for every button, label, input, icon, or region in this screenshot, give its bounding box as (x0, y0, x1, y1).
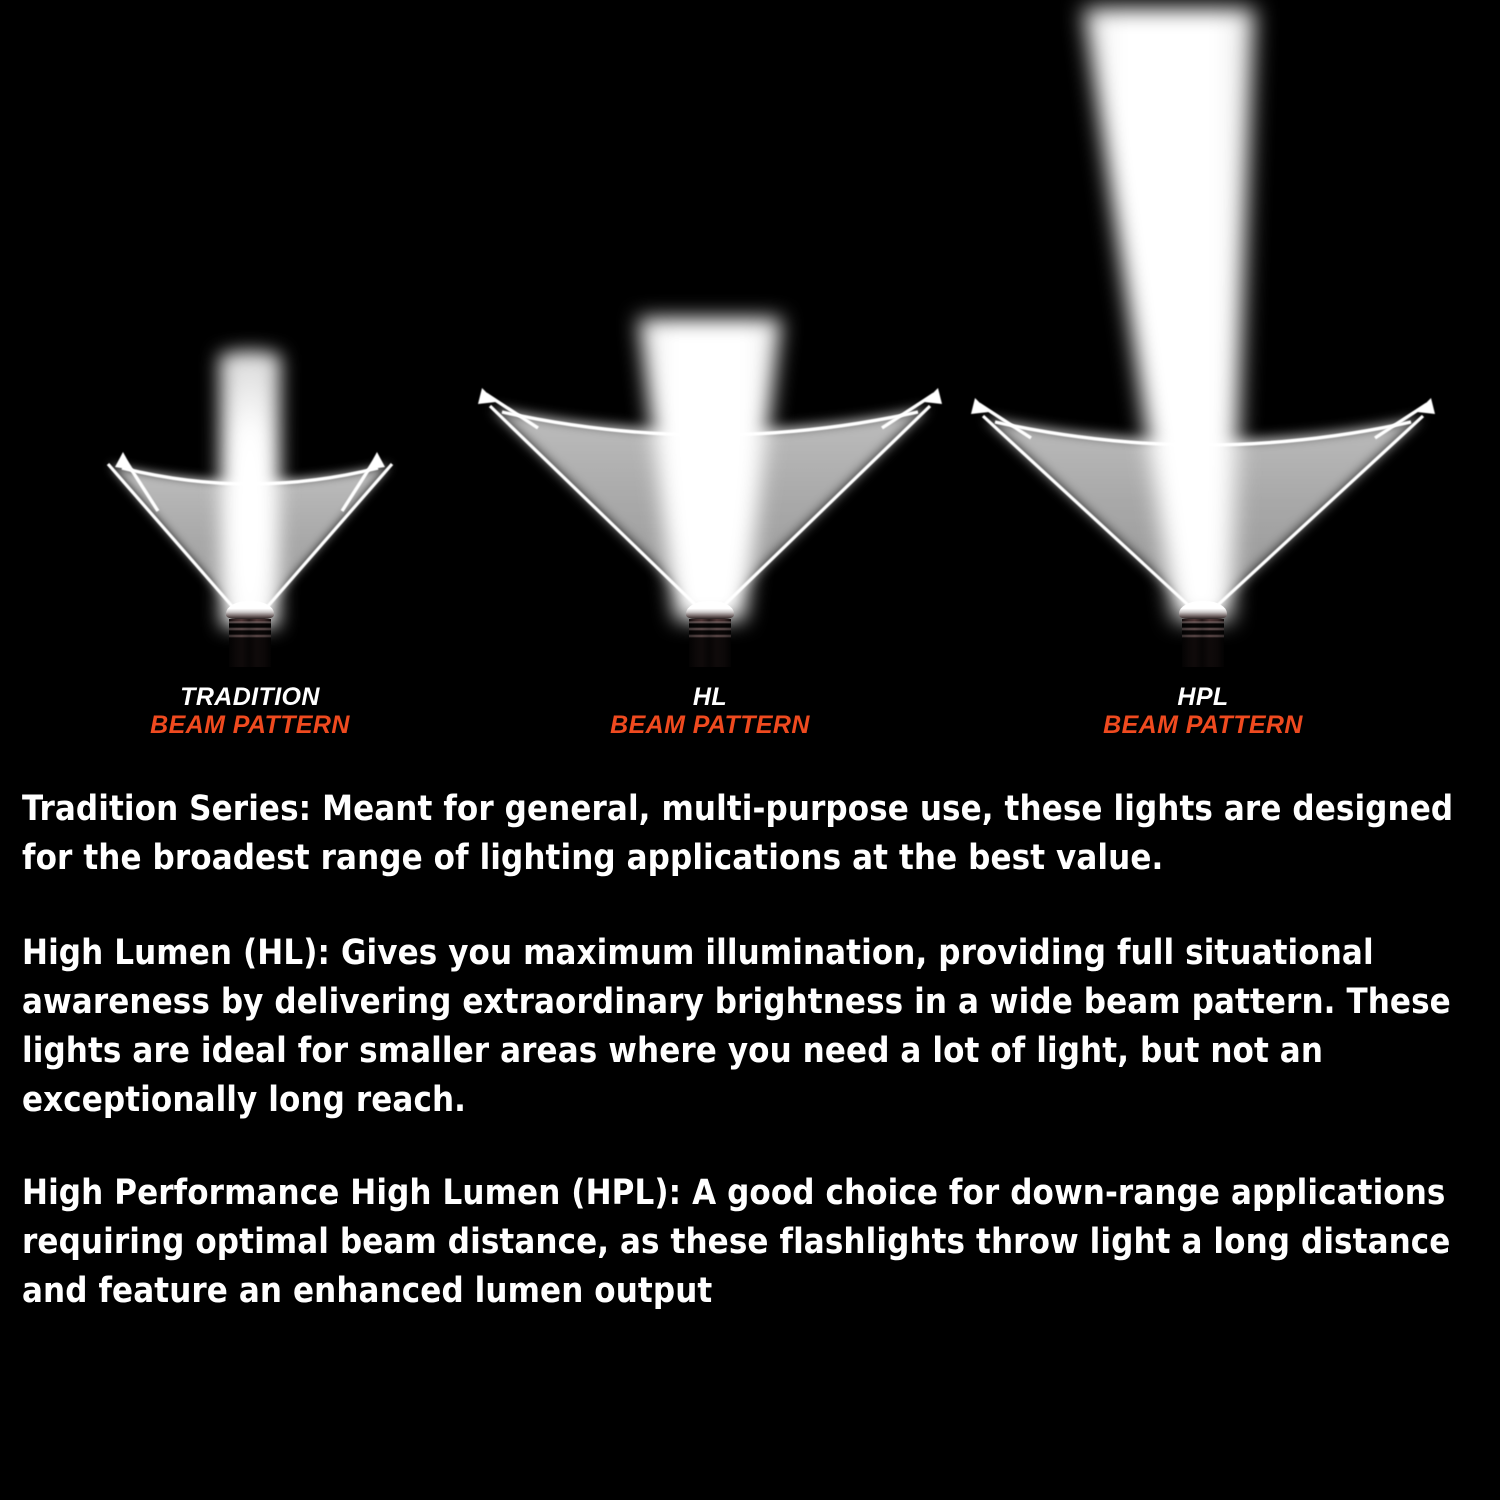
hl-label-line-1: HL (610, 683, 810, 711)
flashlight-body (226, 601, 274, 667)
flashlight-barrel (689, 619, 731, 667)
tradition-series-lead: Tradition Series: (22, 789, 311, 829)
high-lumen-lead: High Lumen (HL): (22, 933, 330, 973)
tradition-beam-diagram: TRADITION BEAM PATTERN (0, 0, 500, 755)
hl-beam-diagram: HL BEAM PATTERN (460, 0, 960, 755)
beam-pattern-infographic: TRADITION BEAM PATTERN (0, 0, 1500, 1500)
tradition-label-line-1: TRADITION (150, 683, 350, 711)
hpl-label-line-2: BEAM PATTERN (1103, 711, 1303, 739)
high-lumen-paragraph: High Lumen (HL): Gives you maximum illum… (22, 929, 1478, 1125)
flashlight-body (1179, 601, 1227, 667)
flashlight-lens (1179, 601, 1227, 619)
tradition-beam-stage: TRADITION BEAM PATTERN (0, 0, 500, 755)
flashlight-barrel (229, 619, 271, 667)
high-performance-high-lumen-paragraph: High Performance High Lumen (HPL): A goo… (22, 1169, 1478, 1316)
hpl-beam-diagram: HPL BEAM PATTERN (953, 0, 1453, 755)
high-performance-high-lumen-lead: High Performance High Lumen (HPL): (22, 1173, 681, 1213)
tradition-beam-label: TRADITION BEAM PATTERN (150, 683, 350, 739)
flashlight-barrel (1182, 619, 1224, 667)
tradition-label-line-2: BEAM PATTERN (150, 711, 350, 739)
tradition-series-paragraph: Tradition Series: Meant for general, mul… (22, 785, 1478, 883)
description-text-block: Tradition Series: Meant for general, mul… (0, 755, 1500, 1500)
hl-beam-stage: HL BEAM PATTERN (460, 0, 960, 755)
flashlight-body (686, 601, 734, 667)
flashlight-lens (686, 601, 734, 619)
hpl-beam-label: HPL BEAM PATTERN (1103, 683, 1303, 739)
beam-center-column (638, 318, 782, 620)
hpl-label-line-1: HPL (1103, 683, 1303, 711)
flashlight-lens (226, 601, 274, 619)
beam-center-column (219, 351, 281, 628)
hpl-beam-stage: HPL BEAM PATTERN (953, 0, 1453, 755)
hl-label-line-2: BEAM PATTERN (610, 711, 810, 739)
beam-diagram-band: TRADITION BEAM PATTERN (0, 0, 1500, 755)
hl-beam-label: HL BEAM PATTERN (610, 683, 810, 739)
